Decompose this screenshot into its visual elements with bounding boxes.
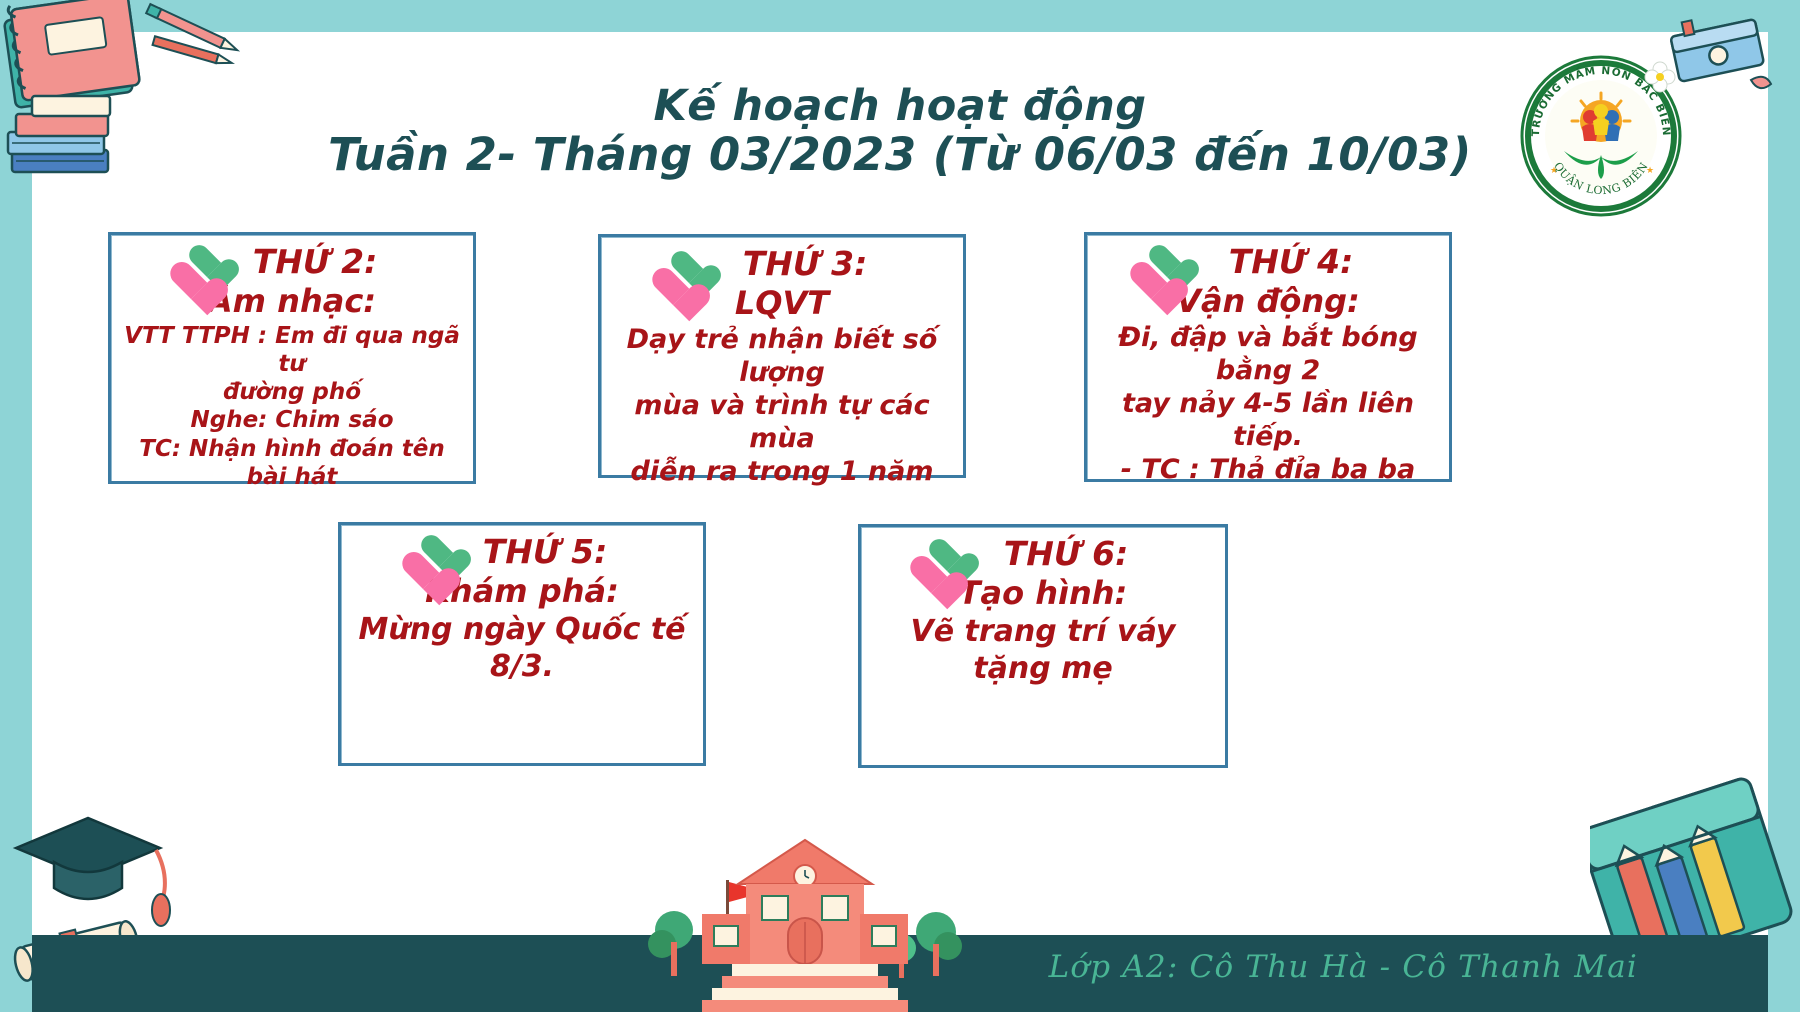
day-label-wednesday: THỨ 4: <box>1093 243 1443 282</box>
day-card-tuesday[interactable]: THỨ 3: LQVT Dạy trẻ nhận biết số lượng m… <box>598 234 966 478</box>
activity-line: VTT TTPH : Em đi qua ngã tư <box>117 322 467 378</box>
day-card-wednesday[interactable]: THỨ 4: Vận động: Đi, đập và bắt bóng bằn… <box>1084 232 1452 482</box>
day-card-thursday[interactable]: THỨ 5: Khám phá: Mừng ngày Quốc tế 8/3. <box>338 522 706 766</box>
activity-line: TC: Nhận hình đoán tên bài hát <box>117 435 467 491</box>
activity-line: mùa và trình tự các mùa <box>607 390 957 456</box>
activity-line: tặng mẹ <box>867 651 1219 688</box>
subject-label-friday: Tạo hình: <box>867 574 1219 612</box>
subject-label-thursday: Khám phá: <box>347 572 697 610</box>
activity-line: Vẽ trang trí váy <box>867 614 1219 651</box>
school-building-illustration <box>640 822 970 1012</box>
day-card-friday[interactable]: THỨ 6: Tạo hình: Vẽ trang trí váy tặng m… <box>858 524 1228 768</box>
activity-line: đường phố <box>117 378 467 406</box>
activity-line: tay nảy 4-5 lần liên tiếp. <box>1093 388 1443 454</box>
day-label-thursday: THỨ 5: <box>347 533 697 572</box>
day-card-monday[interactable]: THỨ 2: Âm nhạc: VTT TTPH : Em đi qua ngã… <box>108 232 476 484</box>
activity-line: Đi, đập và bắt bóng bằng 2 <box>1093 322 1443 388</box>
activity-line: Dạy trẻ nhận biết số lượng <box>607 324 957 390</box>
day-label-friday: THỨ 6: <box>867 535 1219 574</box>
activity-line: 8/3. <box>347 649 697 686</box>
poster-root: Kế hoạch hoạt động Tuần 2- Tháng 03/2023… <box>0 0 1800 1012</box>
day-label-monday: THỨ 2: <box>117 243 467 282</box>
footer-teachers-text: Lớp A2: Cô Thu Hà - Cô Thanh Mai <box>1049 949 1638 985</box>
activity-line: diễn ra trong 1 năm <box>607 456 957 489</box>
subject-label-wednesday: Vận động: <box>1093 282 1443 320</box>
activity-line: Mừng ngày Quốc tế <box>347 612 697 649</box>
subject-label-monday: Âm nhạc: <box>117 282 467 320</box>
activity-line: - TC : Thả đỉa ba ba <box>1093 454 1443 487</box>
school-logo: ★★ TRƯỜNG MẦM NON BẮC BIÊN QUẬN LONG BIÊ… <box>1520 55 1682 217</box>
day-label-tuesday: THỨ 3: <box>607 245 957 284</box>
subject-label-tuesday: LQVT <box>607 284 957 322</box>
activity-line: Nghe: Chim sáo <box>117 406 467 434</box>
